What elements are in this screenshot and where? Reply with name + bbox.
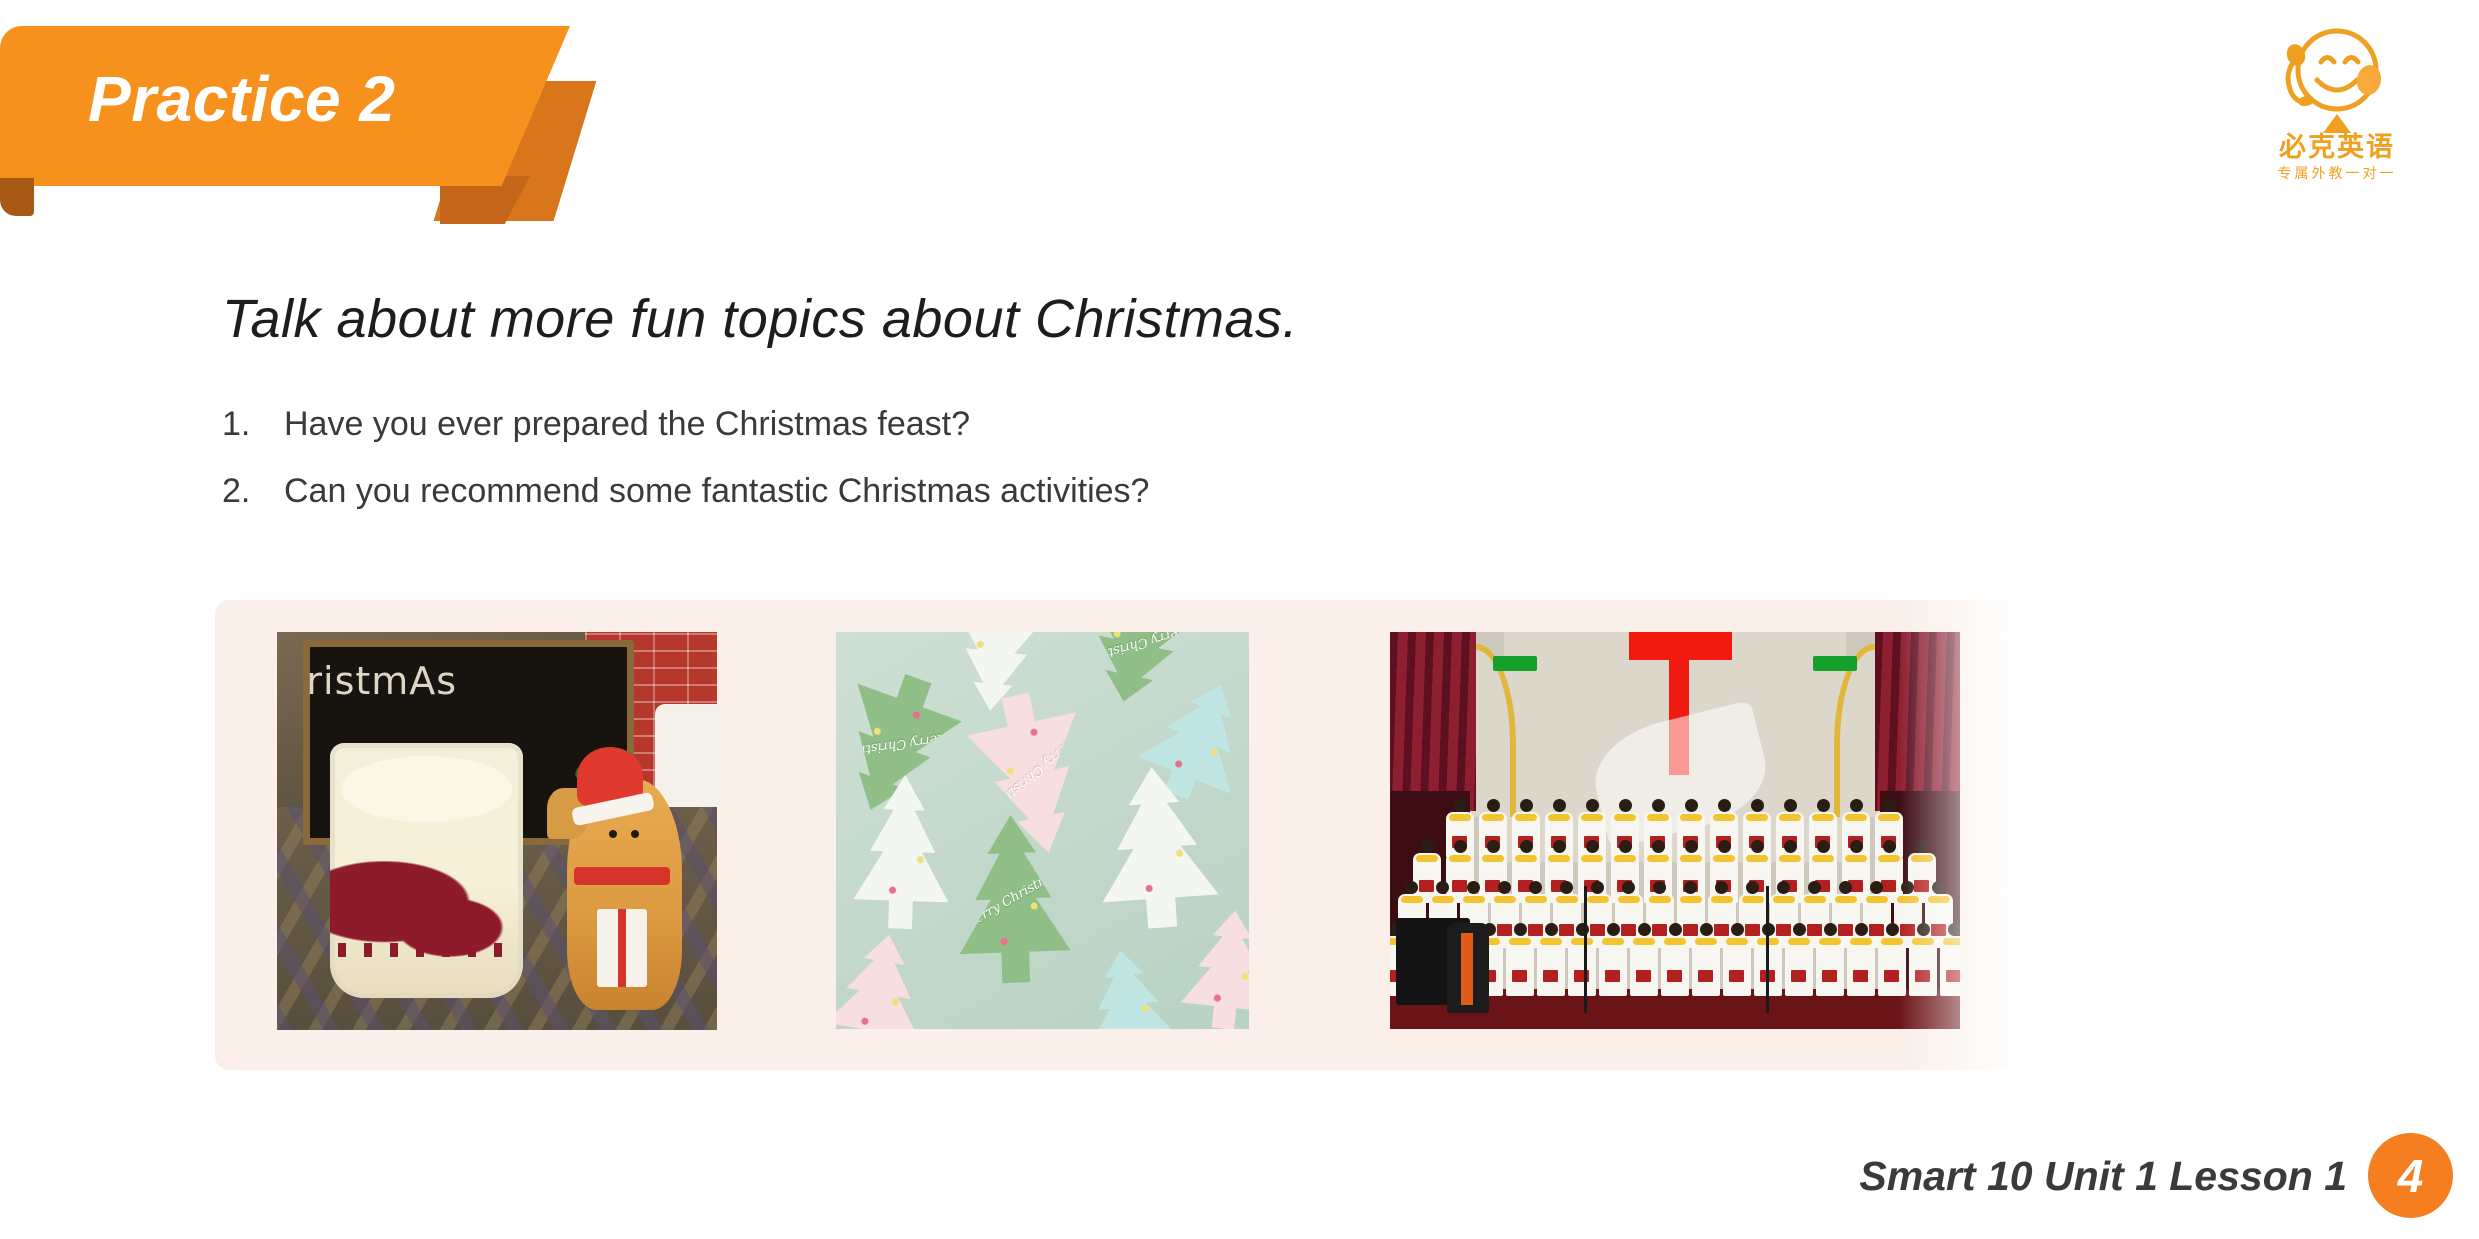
photo3-singer-collar bbox=[1515, 855, 1537, 862]
photo3-singer-head bbox=[1883, 840, 1896, 853]
photo3-hymn-book bbox=[1822, 970, 1837, 982]
photo3-singer-collar bbox=[1943, 938, 1960, 945]
photo3-hymn-book bbox=[1667, 970, 1682, 982]
photo3-singer-head bbox=[1669, 923, 1682, 936]
photo3-singer-collar bbox=[1515, 814, 1537, 821]
photo3-singer-head bbox=[1520, 840, 1533, 853]
photo3-choir-singer bbox=[1661, 923, 1689, 996]
list-item-text: Have you ever prepared the Christmas fea… bbox=[284, 405, 970, 444]
photo3-singer-head bbox=[1883, 799, 1896, 812]
photo3-hymn-book bbox=[1605, 970, 1620, 982]
photo3-singer-collar bbox=[1432, 896, 1454, 903]
footer-lesson-label: Smart 10 Unit 1 Lesson 1 bbox=[1859, 1153, 2347, 1200]
photo3-singer-collar bbox=[1401, 896, 1423, 903]
photo3-singer-head bbox=[1916, 840, 1929, 853]
photo3-singer-robe bbox=[1568, 936, 1596, 996]
photo3-singer-head bbox=[1520, 799, 1533, 812]
photo3-curtain-right bbox=[1875, 632, 1961, 811]
photo3-singer-collar bbox=[1614, 855, 1636, 862]
photo3-singer-robe bbox=[1661, 936, 1689, 996]
photo3-singer-collar bbox=[1845, 814, 1867, 821]
photo3-singer-robe bbox=[1847, 936, 1875, 996]
photo3-singer-collar bbox=[1726, 938, 1748, 945]
photo3-singer-collar bbox=[1463, 896, 1485, 903]
photo3-choir-singer bbox=[1568, 923, 1596, 996]
photo3-singer-head bbox=[1777, 881, 1790, 894]
photo3-singer-robe bbox=[1785, 936, 1813, 996]
photo3-singer-head bbox=[1685, 840, 1698, 853]
practice-banner: Practice 2 bbox=[0, 26, 640, 216]
photo3-singer-collar bbox=[1680, 814, 1702, 821]
photo1-eye-left bbox=[609, 830, 617, 838]
photo3-singer-collar bbox=[1633, 938, 1655, 945]
photo1-gift-ribbon bbox=[618, 909, 626, 987]
photo3-singer-collar bbox=[1449, 814, 1471, 821]
photo3-singer-collar bbox=[1482, 855, 1504, 862]
photo3-singer-head bbox=[1586, 840, 1599, 853]
photo3-singer-head bbox=[1718, 799, 1731, 812]
photo3-singer-head bbox=[1731, 923, 1744, 936]
photo3-hymn-book bbox=[1884, 970, 1899, 982]
photo1-reindeer-figurine bbox=[567, 779, 681, 1010]
photo3-singer-collar bbox=[1878, 855, 1900, 862]
photo3-singer-collar bbox=[1548, 814, 1570, 821]
list-item-number: 2. bbox=[222, 472, 284, 511]
photo3-singer-collar bbox=[1911, 855, 1933, 862]
photo3-singer-head bbox=[1751, 799, 1764, 812]
photo3-conductor-sash bbox=[1461, 933, 1473, 1005]
photo3-hymn-book bbox=[1729, 970, 1744, 982]
photo3-singer-head bbox=[1553, 799, 1566, 812]
photo3-singer-robe bbox=[1816, 936, 1844, 996]
photo3-hymn-book bbox=[1791, 970, 1806, 982]
photo3-singer-head bbox=[1718, 840, 1731, 853]
photo3-singer-head bbox=[1751, 840, 1764, 853]
photo3-singer-collar bbox=[1711, 896, 1733, 903]
photo3-singer-collar bbox=[1812, 855, 1834, 862]
photo3-hymn-book bbox=[1698, 970, 1713, 982]
banner-fold-left bbox=[0, 178, 34, 216]
photo3-singer-collar bbox=[1742, 896, 1764, 903]
photo3-singer-head bbox=[1700, 923, 1713, 936]
photo3-exit-sign-left bbox=[1493, 656, 1537, 671]
photo3-choir-singer bbox=[1723, 923, 1751, 996]
photo3-singer-head bbox=[1793, 923, 1806, 936]
photo3-singer-robe bbox=[1506, 936, 1534, 996]
photo3-singer-head bbox=[1855, 923, 1868, 936]
photo3-singer-head bbox=[1932, 881, 1945, 894]
photo3-choir-singer bbox=[1692, 923, 1720, 996]
photo3-singer-collar bbox=[1897, 896, 1919, 903]
photo3-singer-collar bbox=[1647, 814, 1669, 821]
photo3-hymn-book bbox=[1853, 970, 1868, 982]
photo3-singer-head bbox=[1514, 923, 1527, 936]
photo3-singer-head bbox=[1560, 881, 1573, 894]
photo3-singer-head bbox=[1467, 881, 1480, 894]
photo1-chalkboard-text: ristmAs bbox=[306, 659, 457, 703]
photo3-singer-head bbox=[1454, 799, 1467, 812]
photo3-choir-singer bbox=[1909, 923, 1937, 996]
photo3-singer-head bbox=[1487, 799, 1500, 812]
photo3-singer-collar bbox=[1587, 896, 1609, 903]
photo3-singer-head bbox=[1591, 881, 1604, 894]
banner-title: Practice 2 bbox=[88, 62, 395, 136]
photo3-curtain-left bbox=[1390, 632, 1476, 811]
photo3-singer-collar bbox=[1680, 855, 1702, 862]
logo-subtitle: 专属外教一对一 bbox=[2237, 165, 2437, 182]
photo3-singer-head bbox=[1886, 923, 1899, 936]
photo3-singer-head bbox=[1586, 799, 1599, 812]
photo3-singer-robe bbox=[1878, 936, 1906, 996]
photo3-singer-head bbox=[1638, 923, 1651, 936]
photo3-singer-collar bbox=[1449, 855, 1471, 862]
page-title: Talk about more fun topics about Christm… bbox=[222, 288, 1298, 350]
photo1-eggnog-glass bbox=[330, 743, 524, 998]
photo3-singer-head bbox=[1808, 881, 1821, 894]
smiley-headset-icon bbox=[2237, 18, 2437, 136]
photo3-singer-collar bbox=[1713, 814, 1735, 821]
photo3-singer-head bbox=[1498, 881, 1511, 894]
photo3-choir-singer bbox=[1940, 923, 1960, 996]
list-item: 1. Have you ever prepared the Christmas … bbox=[222, 405, 1922, 444]
christmas-tree-cookies-photo: merry Christmas merry Christmas merry Ch… bbox=[836, 632, 1249, 1029]
photo3-singer-collar bbox=[1581, 855, 1603, 862]
image-gallery-panel: ristmAs bbox=[215, 600, 2027, 1070]
photo3-singer-head bbox=[1436, 881, 1449, 894]
photo3-choir-singer bbox=[1785, 923, 1813, 996]
photo3-singer-head bbox=[1545, 923, 1558, 936]
photo3-singer-collar bbox=[1878, 814, 1900, 821]
photo3-choir-singer bbox=[1630, 923, 1658, 996]
list-item-text: Can you recommend some fantastic Christm… bbox=[284, 472, 1149, 511]
photo3-singer-collar bbox=[1928, 896, 1950, 903]
photo3-singer-head bbox=[1487, 840, 1500, 853]
photo3-microphone-stand bbox=[1766, 886, 1769, 1013]
photo3-singer-head bbox=[1948, 923, 1961, 936]
photo3-singer-collar bbox=[1614, 814, 1636, 821]
photo3-choir-singer bbox=[1878, 923, 1906, 996]
photo3-singer-head bbox=[1653, 881, 1666, 894]
logo-title: 必克英语 bbox=[2237, 134, 2437, 161]
photo3-singer-head bbox=[1839, 881, 1852, 894]
photo3-choir-singer bbox=[1599, 923, 1627, 996]
photo3-singer-collar bbox=[1713, 855, 1735, 862]
photo3-singer-collar bbox=[1647, 855, 1669, 862]
photo3-singer-collar bbox=[1746, 814, 1768, 821]
photo3-singer-collar bbox=[1680, 896, 1702, 903]
photo3-hymn-book bbox=[1543, 970, 1558, 982]
photo3-singer-head bbox=[1421, 840, 1434, 853]
photo3-singer-collar bbox=[1416, 855, 1438, 862]
photo3-singer-collar bbox=[1540, 938, 1562, 945]
photo3-singer-collar bbox=[1618, 896, 1640, 903]
photo3-singer-collar bbox=[1556, 896, 1578, 903]
photo3-singer-head bbox=[1454, 840, 1467, 853]
photo3-hymn-book bbox=[1636, 970, 1651, 982]
photo3-singer-head bbox=[1824, 923, 1837, 936]
photo3-singer-head bbox=[1746, 881, 1759, 894]
photo3-singer-head bbox=[1784, 799, 1797, 812]
photo3-singer-collar bbox=[1835, 896, 1857, 903]
photo3-singer-robe bbox=[1909, 936, 1937, 996]
photo3-singer-collar bbox=[1819, 938, 1841, 945]
photo3-choir-singer bbox=[1506, 923, 1534, 996]
photo3-singer-head bbox=[1622, 881, 1635, 894]
photo1-eye-right bbox=[631, 830, 639, 838]
photo3-singer-head bbox=[1870, 881, 1883, 894]
photo3-singer-collar bbox=[1482, 814, 1504, 821]
photo3-singer-head bbox=[1850, 840, 1863, 853]
photo3-singer-robe bbox=[1940, 936, 1960, 996]
photo3-singer-collar bbox=[1779, 814, 1801, 821]
photo3-singer-collar bbox=[1779, 855, 1801, 862]
photo3-hymn-book bbox=[1512, 970, 1527, 982]
photo3-singer-collar bbox=[1746, 855, 1768, 862]
photo3-singer-collar bbox=[1845, 855, 1867, 862]
photo3-singer-robe bbox=[1537, 936, 1565, 996]
photo3-singer-collar bbox=[1881, 938, 1903, 945]
photo3-singer-head bbox=[1553, 840, 1566, 853]
question-list: 1. Have you ever prepared the Christmas … bbox=[222, 405, 1922, 539]
page-number-badge: 4 bbox=[2368, 1133, 2453, 1218]
photo3-singer-collar bbox=[1602, 938, 1624, 945]
photo3-singer-head bbox=[1619, 840, 1632, 853]
photo3-singer-collar bbox=[1850, 938, 1872, 945]
photo3-singer-robe bbox=[1599, 936, 1627, 996]
photo3-conductor bbox=[1447, 923, 1489, 1013]
photo3-singer-collar bbox=[1912, 938, 1934, 945]
photo3-singer-collar bbox=[1812, 814, 1834, 821]
church-choir-photo bbox=[1390, 632, 1960, 1029]
list-item: 2. Can you recommend some fantastic Chri… bbox=[222, 472, 1922, 511]
photo3-singer-head bbox=[1652, 799, 1665, 812]
photo3-singer-collar bbox=[1525, 896, 1547, 903]
photo3-singer-head bbox=[1529, 881, 1542, 894]
photo3-singer-head bbox=[1817, 840, 1830, 853]
photo3-singer-collar bbox=[1866, 896, 1888, 903]
photo3-singer-head bbox=[1817, 799, 1830, 812]
photo3-singer-collar bbox=[1695, 938, 1717, 945]
photo3-singer-collar bbox=[1664, 938, 1686, 945]
photo3-singer-head bbox=[1619, 799, 1632, 812]
photo3-singer-head bbox=[1715, 881, 1728, 894]
photo3-singer-collar bbox=[1649, 896, 1671, 903]
photo3-singer-head bbox=[1685, 799, 1698, 812]
photo3-singer-collar bbox=[1509, 938, 1531, 945]
eggnog-reindeer-photo: ristmAs bbox=[277, 632, 717, 1030]
photo3-hymn-book bbox=[1915, 970, 1930, 982]
photo3-singer-head bbox=[1901, 881, 1914, 894]
photo3-singer-collar bbox=[1494, 896, 1516, 903]
photo3-singer-head bbox=[1652, 840, 1665, 853]
photo3-cross-horizontal bbox=[1629, 632, 1732, 660]
photo3-singer-head bbox=[1850, 799, 1863, 812]
photo3-singer-collar bbox=[1571, 938, 1593, 945]
photo3-choir-singer bbox=[1816, 923, 1844, 996]
photo3-singer-collar bbox=[1788, 938, 1810, 945]
photo3-hymn-book bbox=[1946, 970, 1960, 982]
photo1-collar bbox=[574, 867, 670, 885]
photo3-singer-collar bbox=[1581, 814, 1603, 821]
photo3-singer-robe bbox=[1692, 936, 1720, 996]
photo3-choir-singer bbox=[1847, 923, 1875, 996]
photo3-singer-robe bbox=[1630, 936, 1658, 996]
photo3-singer-collar bbox=[1804, 896, 1826, 903]
photo3-singer-collar bbox=[1548, 855, 1570, 862]
photo3-microphone-stand bbox=[1584, 886, 1587, 1013]
photo3-singer-head bbox=[1607, 923, 1620, 936]
photo1-gift-box bbox=[597, 909, 647, 987]
photo3-singer-head bbox=[1784, 840, 1797, 853]
photo1-star-band bbox=[338, 943, 516, 957]
list-item-number: 1. bbox=[222, 405, 284, 444]
photo3-singer-head bbox=[1405, 881, 1418, 894]
photo1-milk-surface bbox=[341, 756, 511, 822]
photo3-singer-collar bbox=[1773, 896, 1795, 903]
photo3-exit-sign-right bbox=[1813, 656, 1857, 671]
photo3-singer-head bbox=[1684, 881, 1697, 894]
photo3-singer-head bbox=[1917, 923, 1930, 936]
photo3-choir-singer bbox=[1537, 923, 1565, 996]
photo3-singer-robe bbox=[1723, 936, 1751, 996]
brand-logo: 必克英语 专属外教一对一 bbox=[2237, 18, 2437, 204]
